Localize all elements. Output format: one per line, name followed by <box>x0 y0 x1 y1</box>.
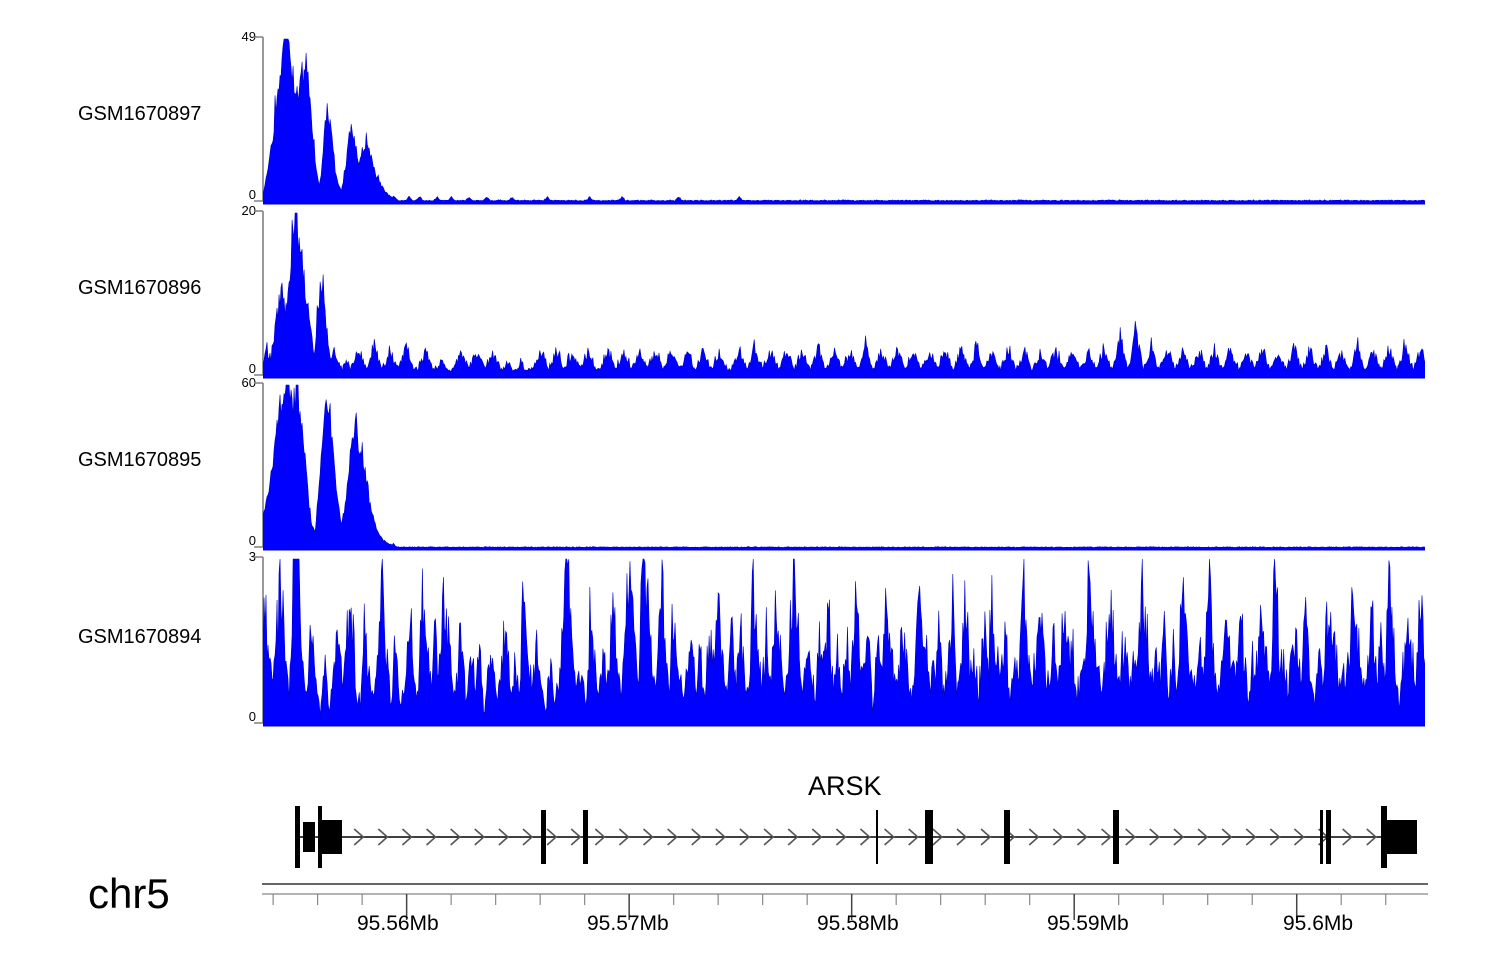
gene-exon <box>303 822 315 852</box>
track-label-2: GSM1670895 <box>78 449 201 472</box>
gene-exon <box>1385 820 1417 854</box>
genome-browser-viewer: GSM1670897 49 0 GSM1670896 20 0 GSM16708… <box>0 0 1500 980</box>
gene-exon <box>295 806 300 868</box>
track-data-3 <box>263 555 1425 729</box>
track-axis-max-1: 20 <box>214 204 256 217</box>
track-axis-max-2: 60 <box>214 376 256 389</box>
track-data-0 <box>263 35 1425 207</box>
track-label-0: GSM1670897 <box>78 103 201 126</box>
gene-exon <box>318 806 322 868</box>
track-row-2: GSM1670895 60 0 <box>0 376 1500 544</box>
tick-label-0: 95.56Mb <box>357 912 439 936</box>
gene-exon <box>1326 810 1331 864</box>
track-data-2 <box>263 381 1425 553</box>
track-axis-min-2: 0 <box>214 534 256 547</box>
track-axis-max-0: 49 <box>214 30 256 43</box>
track-data-1 <box>263 209 1425 381</box>
gene-exon <box>1004 810 1010 864</box>
gene-exon <box>1113 810 1119 864</box>
track-label-1: GSM1670896 <box>78 277 201 300</box>
track-row-1: GSM1670896 20 0 <box>0 204 1500 372</box>
track-axis-max-3: 3 <box>214 550 256 563</box>
gene-exon <box>876 810 878 864</box>
tick-label-4: 95.6Mb <box>1283 912 1353 936</box>
gene-exon <box>1320 810 1323 864</box>
gene-exon <box>322 820 342 854</box>
gene-exon <box>541 810 546 864</box>
chromosome-label: chr5 <box>88 870 170 918</box>
gene-exon <box>925 810 933 864</box>
gene-model-track[interactable] <box>260 795 1430 885</box>
tick-label-3: 95.59Mb <box>1047 912 1129 936</box>
track-row-0: GSM1670897 49 0 <box>0 30 1500 198</box>
track-axis-min-0: 0 <box>214 188 256 201</box>
track-row-3: GSM1670894 3 0 <box>0 550 1500 722</box>
tick-label-2: 95.58Mb <box>817 912 899 936</box>
track-axis-min-1: 0 <box>214 362 256 375</box>
track-label-3: GSM1670894 <box>78 626 201 649</box>
track-axis-min-3: 0 <box>214 710 256 723</box>
gene-exon <box>583 810 588 864</box>
tick-label-1: 95.57Mb <box>587 912 669 936</box>
